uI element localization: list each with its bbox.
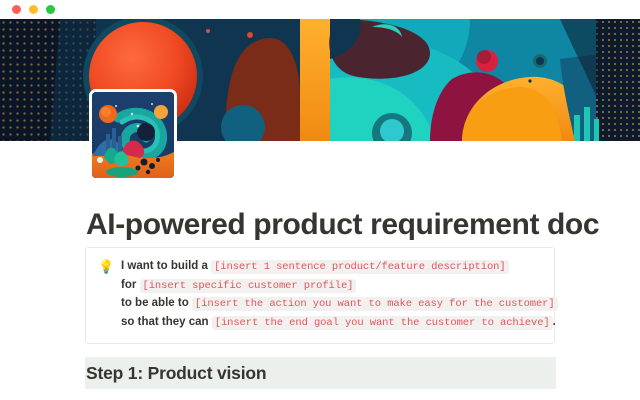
- window-titlebar: [0, 0, 640, 19]
- callout-line-3-prefix: to be able to: [121, 297, 192, 309]
- app-window: AI-powered product requirement doc 💡 I w…: [0, 0, 640, 400]
- maximize-button[interactable]: [46, 5, 55, 14]
- callout-line-2-prefix: for: [121, 279, 140, 291]
- callout-text[interactable]: I want to build a [insert 1 sentence pro…: [121, 258, 558, 332]
- traffic-light-controls: [12, 5, 55, 14]
- placeholder-end-goal[interactable]: [insert the end goal you want the custom…: [212, 316, 553, 330]
- lightbulb-icon: 💡: [98, 258, 114, 275]
- callout-block[interactable]: 💡 I want to build a [insert 1 sentence p…: [85, 247, 555, 344]
- callout-line-1: I want to build a [insert 1 sentence pro…: [121, 258, 558, 277]
- page-icon[interactable]: [92, 92, 174, 178]
- page-title[interactable]: AI-powered product requirement doc: [86, 207, 566, 243]
- page-icon-art: [92, 92, 174, 178]
- placeholder-product-description[interactable]: [insert 1 sentence product/feature descr…: [211, 260, 508, 274]
- close-button[interactable]: [12, 5, 21, 14]
- minimize-button[interactable]: [29, 5, 38, 14]
- callout-line-3: to be able to [insert the action you wan…: [121, 295, 558, 314]
- callout-line-4: so that they can [insert the end goal yo…: [121, 314, 558, 333]
- callout-line-1-prefix: I want to build a: [121, 260, 211, 272]
- section-heading-step-1-label: Step 1: Product vision: [86, 363, 266, 384]
- callout-line-4-prefix: so that they can: [121, 316, 212, 328]
- placeholder-customer-profile[interactable]: [insert specific customer profile]: [140, 279, 357, 293]
- placeholder-customer-action[interactable]: [insert the action you want to make easy…: [192, 297, 558, 311]
- callout-line-2: for [insert specific customer profile]: [121, 277, 558, 296]
- section-heading-step-1[interactable]: Step 1: Product vision: [85, 357, 556, 389]
- callout-line-4-suffix: .: [553, 316, 556, 328]
